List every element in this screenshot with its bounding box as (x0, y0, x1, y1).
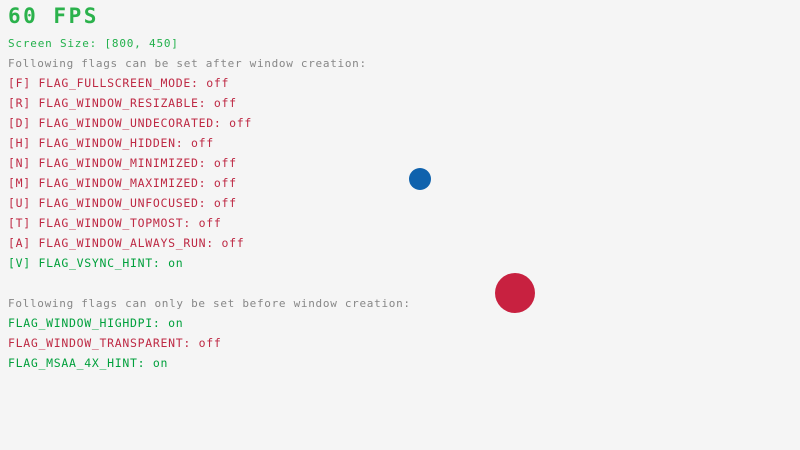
before-creation-heading: Following flags can only be set before w… (8, 298, 411, 309)
flag-row-flag-fullscreen-mode[interactable]: [F] FLAG_FULLSCREEN_MODE: off (8, 78, 229, 90)
flag-row-flag-window-highdpi[interactable]: FLAG_WINDOW_HIGHDPI: on (8, 318, 183, 330)
flag-row-flag-vsync-hint[interactable]: [V] FLAG_VSYNC_HINT: on (8, 258, 183, 270)
raylib-window-canvas[interactable]: 60 FPS Screen Size: [800, 450] Following… (0, 0, 800, 450)
flag-row-flag-window-maximized[interactable]: [M] FLAG_WINDOW_MAXIMIZED: off (8, 178, 237, 190)
after-creation-heading: Following flags can be set after window … (8, 58, 367, 69)
screen-size-label: Screen Size: [800, 450] (8, 38, 179, 49)
flag-row-flag-window-minimized[interactable]: [N] FLAG_WINDOW_MINIMIZED: off (8, 158, 237, 170)
flag-row-flag-window-topmost[interactable]: [T] FLAG_WINDOW_TOPMOST: off (8, 218, 221, 230)
flag-row-flag-msaa-4x-hint[interactable]: FLAG_MSAA_4X_HINT: on (8, 358, 168, 370)
blue-ball-shape (409, 168, 431, 190)
flag-row-flag-window-undecorated[interactable]: [D] FLAG_WINDOW_UNDECORATED: off (8, 118, 252, 130)
flag-row-flag-window-unfocused[interactable]: [U] FLAG_WINDOW_UNFOCUSED: off (8, 198, 237, 210)
red-ball-shape (495, 273, 535, 313)
flag-row-flag-window-resizable[interactable]: [R] FLAG_WINDOW_RESIZABLE: off (8, 98, 237, 110)
flag-row-flag-window-always-run[interactable]: [A] FLAG_WINDOW_ALWAYS_RUN: off (8, 238, 244, 250)
flag-row-flag-window-hidden[interactable]: [H] FLAG_WINDOW_HIDDEN: off (8, 138, 214, 150)
flag-row-flag-window-transparent[interactable]: FLAG_WINDOW_TRANSPARENT: off (8, 338, 221, 350)
fps-counter: 60 FPS (8, 6, 99, 27)
